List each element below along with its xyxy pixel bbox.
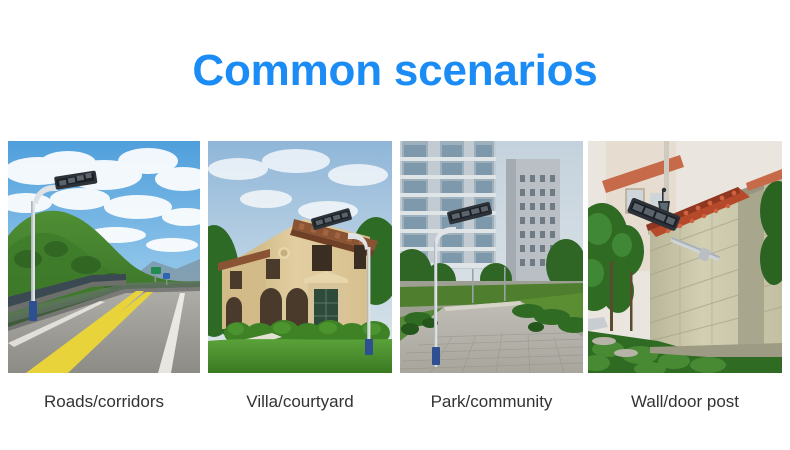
caption-villa-courtyard: Villa/courtyard <box>208 389 392 415</box>
scenario-image-roads-corridors[interactable] <box>8 141 200 373</box>
wall-scene-icon <box>588 141 782 373</box>
scenario-image-wall-door-post[interactable] <box>588 141 782 373</box>
caption-row: Roads/corridors Villa/courtyard Park/com… <box>0 389 790 417</box>
scenario-gallery <box>0 141 790 373</box>
villa-scene-icon <box>208 141 392 373</box>
caption-park-community: Park/community <box>400 389 583 415</box>
caption-roads-corridors: Roads/corridors <box>8 389 200 415</box>
road-scene-icon <box>8 141 200 373</box>
scenario-image-park-community[interactable] <box>400 141 583 373</box>
caption-wall-door-post: Wall/door post <box>588 389 782 415</box>
page-title: Common scenarios <box>0 44 790 98</box>
scenario-image-villa-courtyard[interactable] <box>208 141 392 373</box>
park-scene-icon <box>400 141 583 373</box>
